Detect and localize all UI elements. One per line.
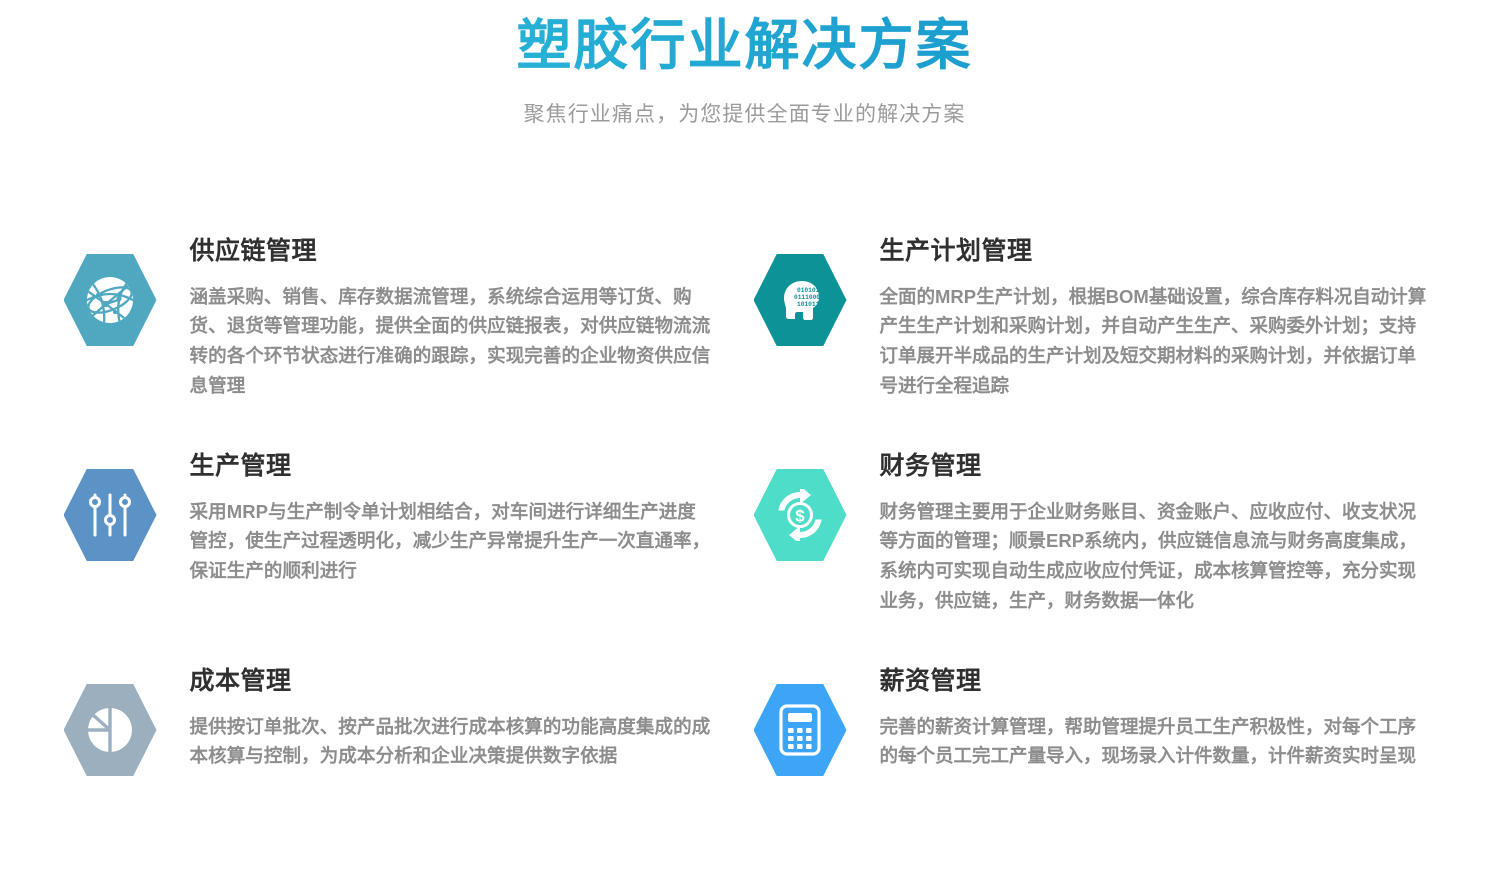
refresh-dollar-icon: $ (774, 489, 826, 541)
svg-text:010101: 010101 (797, 287, 820, 294)
pie-chart-icon (85, 705, 135, 755)
feature-desc: 全面的MRP生产计划，根据BOM基础设置，综合库存料况自动计算产生生产计划和采购… (880, 282, 1434, 402)
feature-title: 供应链管理 (190, 238, 714, 266)
feature-text-production: 生产管理 采用MRP与生产制令单计划相结合，对车间进行详细生产进度管控，使生产过… (190, 453, 714, 586)
hex-badge-finance: $ (754, 469, 847, 561)
hex-badge-payroll (754, 684, 847, 776)
hex-badge-cost (64, 684, 157, 776)
feature-card-production-plan[interactable]: 010101 011100010 1010117 生产计划管理 全面的MRP生产… (754, 238, 1434, 453)
feature-title: 财务管理 (880, 453, 1434, 481)
feature-desc: 提供按订单批次、按产品批次进行成本核算的功能高度集成的成本核算与控制，为成本分析… (190, 712, 714, 772)
svg-text:1010117: 1010117 (797, 301, 823, 308)
brain-binary-head-icon: 010101 011100010 1010117 (773, 273, 827, 327)
feature-card-finance[interactable]: $ 财务管理 财务管理主要用于企业财务账目、资金账户、应收应付、收支状况等方面的… (754, 453, 1434, 668)
feature-title: 成本管理 (190, 668, 714, 696)
feature-text-finance: 财务管理 财务管理主要用于企业财务账目、资金账户、应收应付、收支状况等方面的管理… (880, 453, 1434, 616)
feature-card-supply-chain[interactable]: 供应链管理 涵盖采购、销售、库存数据流管理，系统综合运用等订货、购货、退货等管理… (64, 238, 714, 453)
calculator-icon (779, 704, 821, 756)
feature-card-cost[interactable]: 成本管理 提供按订单批次、按产品批次进行成本核算的功能高度集成的成本核算与控制，… (64, 668, 714, 883)
svg-text:$: $ (795, 507, 805, 526)
feature-title: 生产计划管理 (880, 238, 1434, 266)
feature-desc: 采用MRP与生产制令单计划相结合，对车间进行详细生产进度管控，使生产过程透明化，… (190, 497, 714, 587)
feature-desc: 涵盖采购、销售、库存数据流管理，系统综合运用等订货、购货、退货等管理功能，提供全… (190, 282, 714, 402)
svg-text:011100010: 011100010 (794, 294, 827, 301)
hex-badge-supply-chain (64, 254, 157, 346)
network-globe-icon (84, 274, 136, 326)
feature-text-production-plan: 生产计划管理 全面的MRP生产计划，根据BOM基础设置，综合库存料况自动计算产生… (880, 238, 1434, 401)
feature-text-payroll: 薪资管理 完善的薪资计算管理，帮助管理提升员工生产积极性，对每个工序的每个员工完… (880, 668, 1434, 771)
sliders-icon (86, 490, 134, 540)
feature-title: 生产管理 (190, 453, 714, 481)
page-header: 塑胶行业解决方案 聚焦行业痛点，为您提供全面专业的解决方案 (0, 0, 1489, 128)
page-subtitle: 聚焦行业痛点，为您提供全面专业的解决方案 (0, 98, 1489, 128)
feature-desc: 财务管理主要用于企业财务账目、资金账户、应收应付、收支状况等方面的管理；顺景ER… (880, 497, 1434, 617)
feature-text-cost: 成本管理 提供按订单批次、按产品批次进行成本核算的功能高度集成的成本核算与控制，… (190, 668, 714, 771)
hex-badge-production-plan: 010101 011100010 1010117 (754, 254, 847, 346)
hex-badge-production (64, 469, 157, 561)
feature-card-production[interactable]: 生产管理 采用MRP与生产制令单计划相结合，对车间进行详细生产进度管控，使生产过… (64, 453, 714, 668)
feature-text-supply-chain: 供应链管理 涵盖采购、销售、库存数据流管理，系统综合运用等订货、购货、退货等管理… (190, 238, 714, 401)
feature-desc: 完善的薪资计算管理，帮助管理提升员工生产积极性，对每个工序的每个员工完工产量导入… (880, 712, 1434, 772)
feature-title: 薪资管理 (880, 668, 1434, 696)
solution-page: 塑胶行业解决方案 聚焦行业痛点，为您提供全面专业的解决方案 (0, 0, 1489, 836)
feature-grid: 供应链管理 涵盖采购、销售、库存数据流管理，系统综合运用等订货、购货、退货等管理… (0, 238, 1489, 883)
page-title: 塑胶行业解决方案 (0, 14, 1489, 77)
feature-card-payroll[interactable]: 薪资管理 完善的薪资计算管理，帮助管理提升员工生产积极性，对每个工序的每个员工完… (754, 668, 1434, 883)
